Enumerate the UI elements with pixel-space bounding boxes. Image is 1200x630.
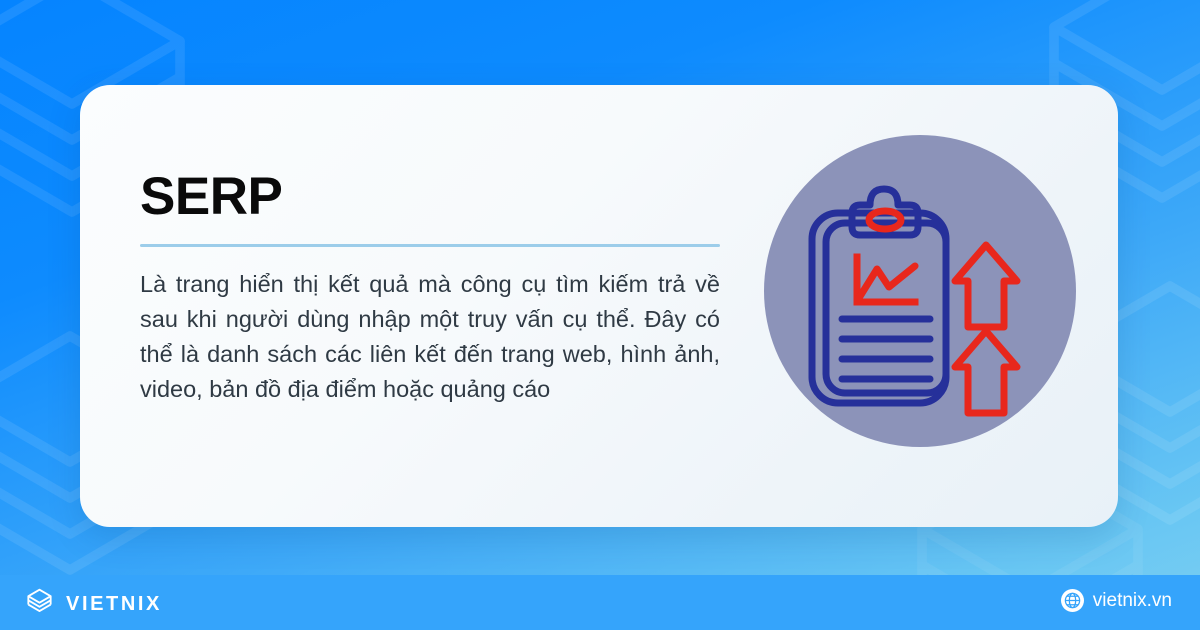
content-card: SERP Là trang hiển thị kết quả mà công c…: [80, 85, 1118, 527]
globe-icon: [1061, 589, 1084, 612]
website-name: vietnix.vn: [1093, 590, 1172, 612]
poster-canvas: SERP Là trang hiển thị kết quả mà công c…: [0, 0, 1200, 630]
illustration: [740, 127, 1100, 487]
brand-name: VIETNIX: [66, 593, 162, 616]
stacked-layers-icon: [24, 586, 55, 622]
page-title: SERP: [140, 170, 720, 224]
title-divider: [140, 244, 720, 247]
brand-lockup[interactable]: VIETNIX: [24, 586, 162, 622]
description-text: Là trang hiển thị kết quả mà công cụ tìm…: [140, 267, 720, 407]
text-column: SERP Là trang hiển thị kết quả mà công c…: [140, 170, 720, 407]
clipboard-chart-arrows-icon: [764, 135, 1076, 447]
footer-bar: VIETNIX vietnix.vn: [0, 575, 1200, 630]
website-lockup[interactable]: vietnix.vn: [1061, 589, 1172, 612]
